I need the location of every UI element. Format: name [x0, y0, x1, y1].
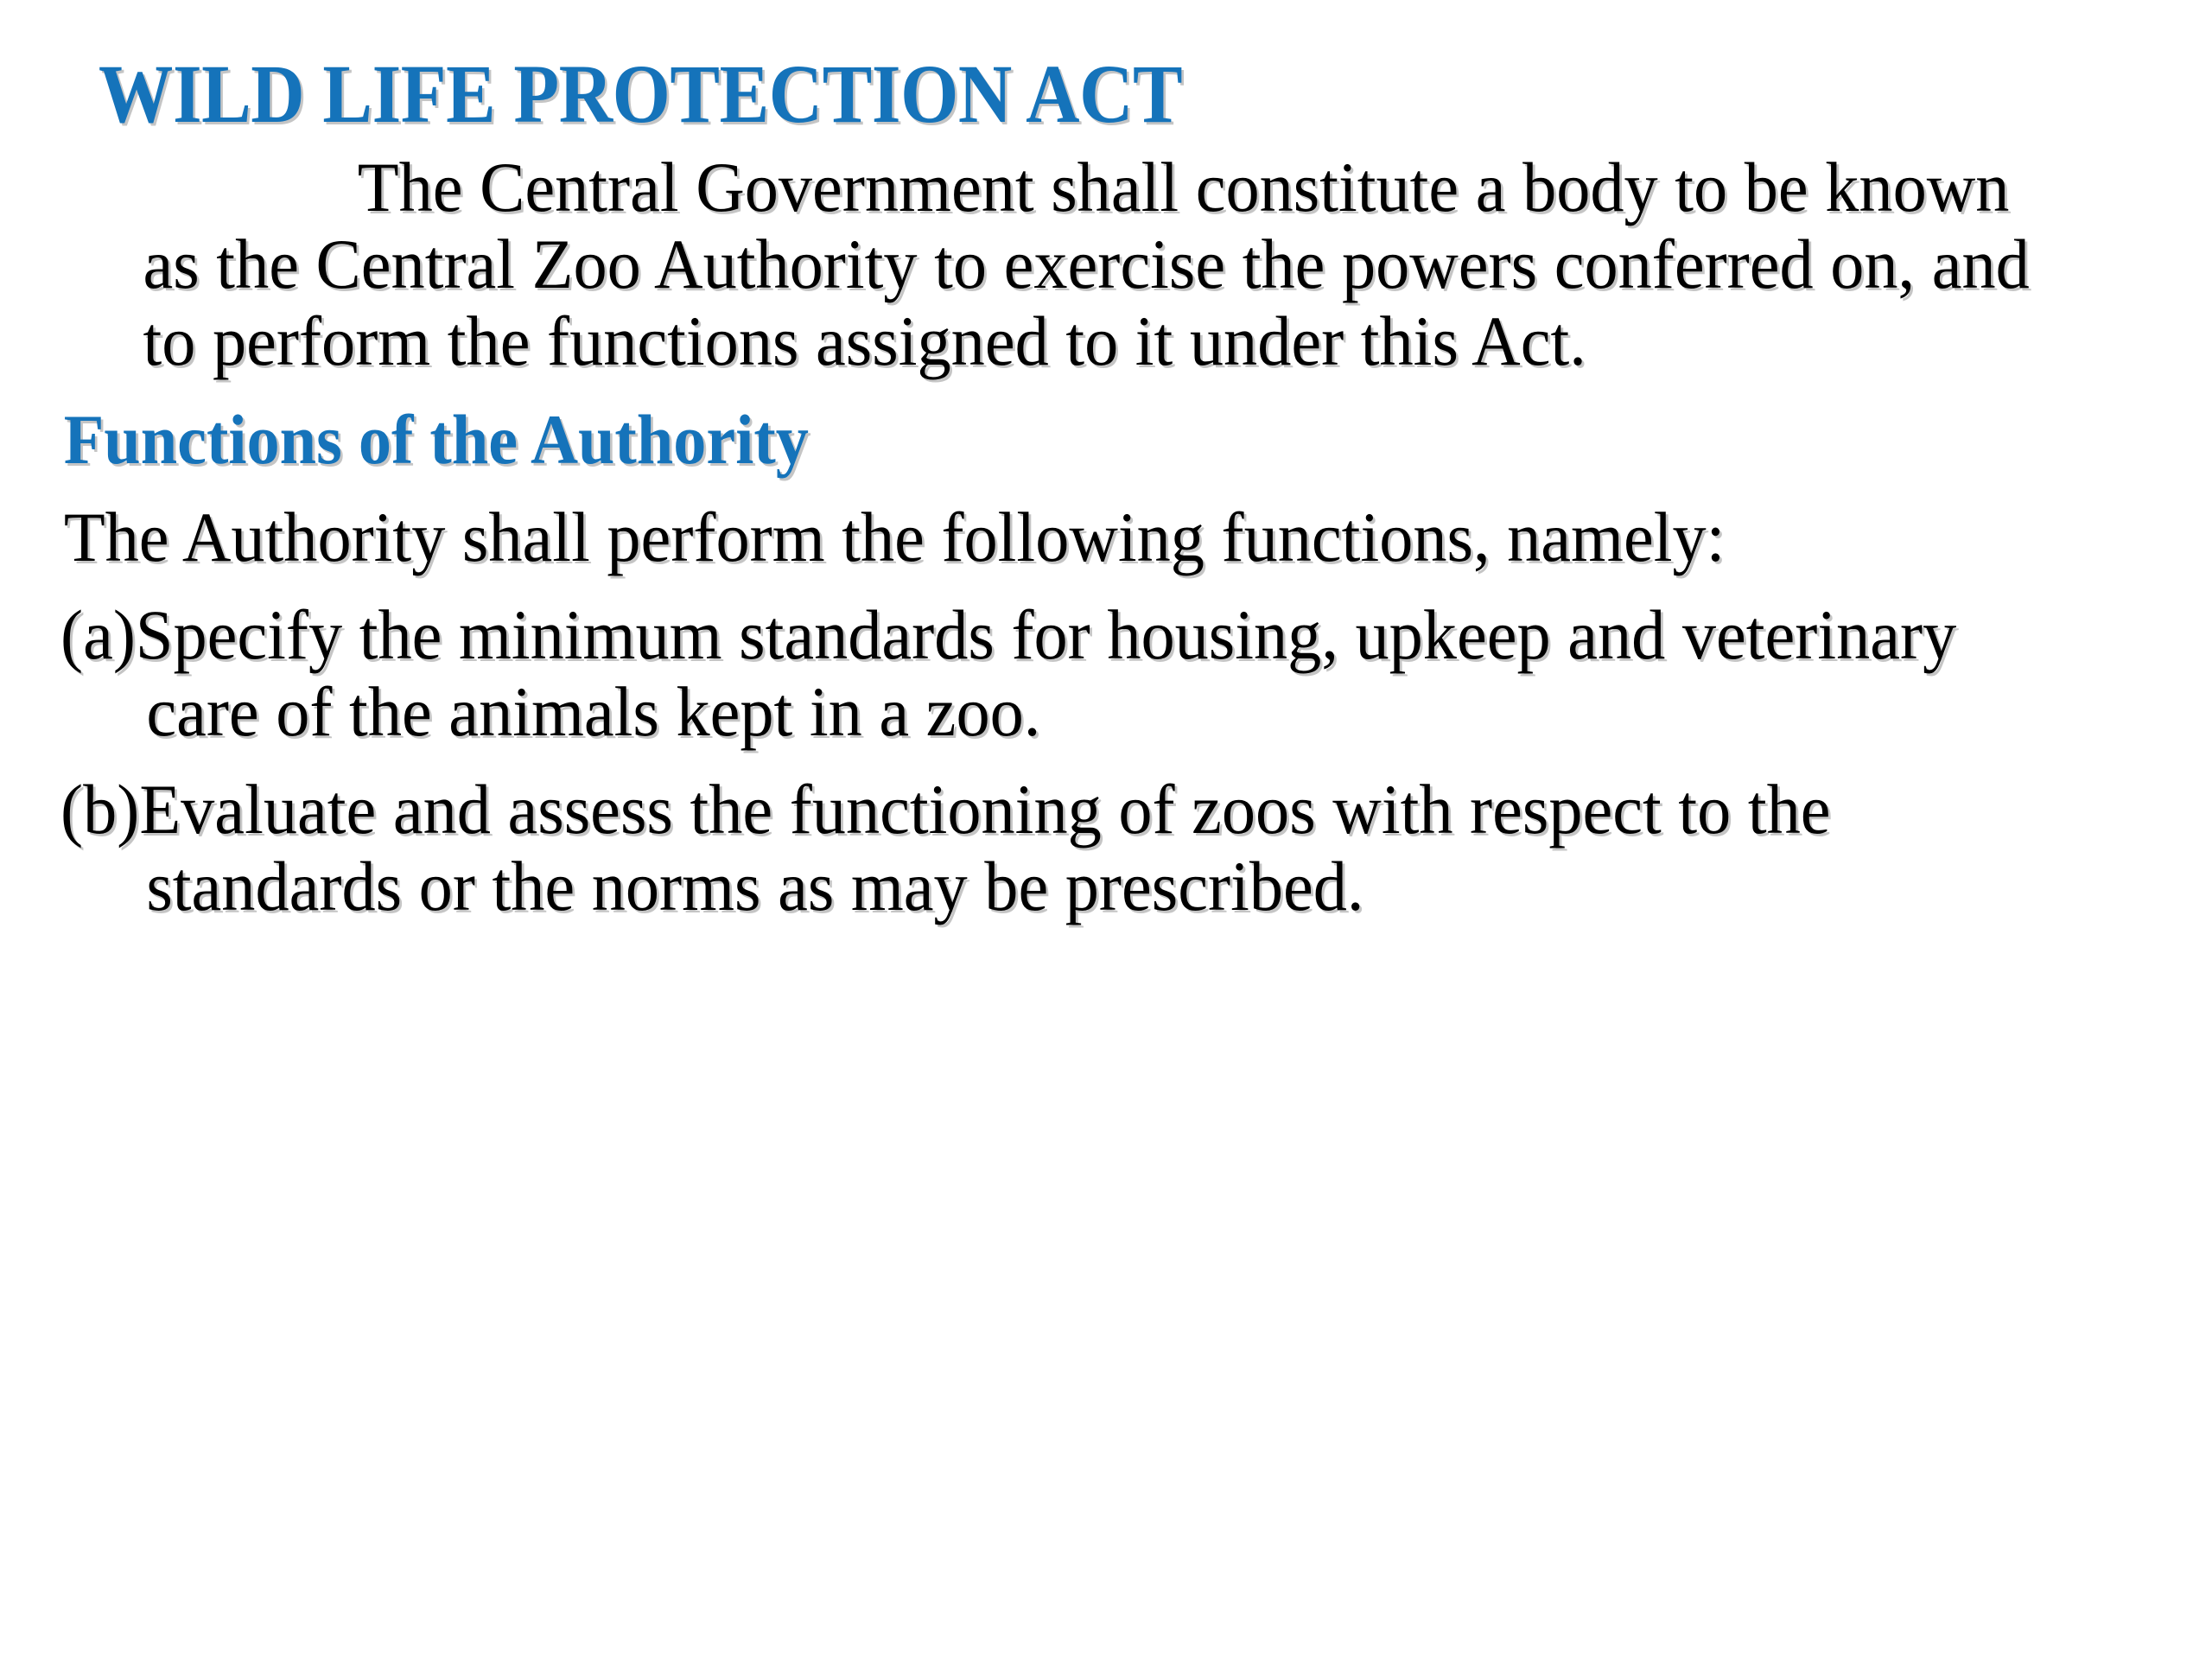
section-heading-functions: Functions of the Authority	[60, 403, 2005, 477]
page-title: WILD LIFE PROTECTION ACT	[99, 52, 1946, 137]
list-item-marker: (b)	[60, 770, 139, 849]
list-item-text: Specify the minimum standards for housin…	[136, 595, 1956, 751]
list-item-marker: (a)	[60, 595, 136, 674]
functions-list: (a)Specify the minimum standards for hou…	[60, 597, 2152, 925]
intro-paragraph: The Central Government shall constitute …	[60, 149, 2057, 380]
list-lead-in-text: The Authority shall perform the followin…	[60, 499, 2057, 576]
presentation-slide: WILD LIFE PROTECTION ACT The Central Gov…	[0, 0, 2212, 1659]
list-item: (a)Specify the minimum standards for hou…	[60, 597, 2057, 751]
list-item: (b)Evaluate and assess the functioning o…	[60, 772, 2057, 925]
list-item-text: Evaluate and assess the functioning of z…	[139, 770, 1830, 925]
